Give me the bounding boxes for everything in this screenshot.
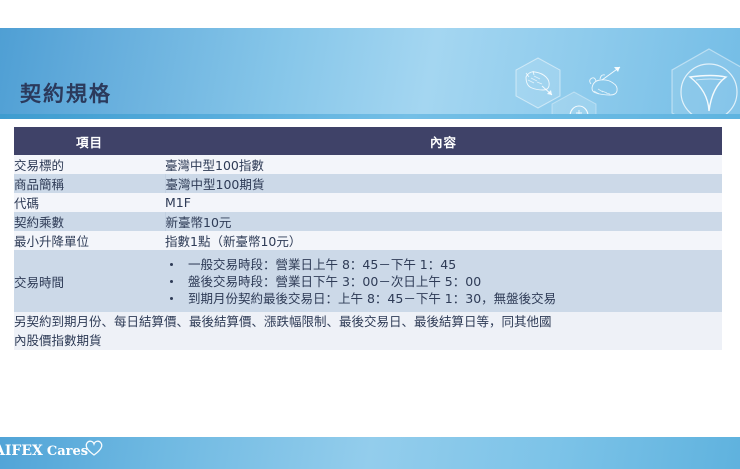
row-label: 交易標的 [14, 155, 165, 174]
row-value: 臺灣中型100期貨 [165, 174, 722, 193]
page-title: 契約規格 [20, 78, 112, 108]
note-line-2: 內股價指數期貨 [14, 331, 722, 350]
row-value: 新臺幣10元 [165, 212, 722, 231]
slide-header-band: 契約規格 [0, 28, 740, 114]
row-value: 臺灣中型100指數 [165, 155, 722, 174]
table-row-trading-hours: 交易時間 一般交易時段：營業日上午 8：45－下午 1：45 盤後交易時段：營業… [14, 250, 722, 312]
footer-brand: AIFEX [0, 443, 43, 459]
header-accent-strip [0, 114, 740, 119]
table-row: 最小升降單位 指數1點（新臺幣10元） [14, 231, 722, 250]
table-row-note: 另契約到期月份、每日結算價、最後結算價、漲跌幅限制、最後交易日、最後結算日等，同… [14, 312, 722, 350]
taifex-logo-icon [666, 46, 740, 114]
row-label: 交易時間 [14, 250, 165, 312]
table-row: 代碼 M1F [14, 193, 722, 212]
row-label: 商品簡稱 [14, 174, 165, 193]
list-item: 盤後交易時段：營業日下午 3：00－次日上午 5：00 [165, 273, 722, 290]
table-row: 契約乘數 新臺幣10元 [14, 212, 722, 231]
footer-logo: AIFEX Cares [0, 443, 105, 459]
footer-tagline: Cares [47, 444, 88, 459]
note-text: 另契約到期月份、每日結算價、最後結算價、漲跌幅限制、最後交易日、最後結算日等，同… [14, 312, 722, 350]
note-line-1: 另契約到期月份、每日結算價、最後結算價、漲跌幅限制、最後交易日、最後結算日等，同… [14, 314, 552, 329]
row-value: M1F [165, 193, 722, 212]
trading-hours-list: 一般交易時段：營業日上午 8：45－下午 1：45 盤後交易時段：營業日下午 3… [165, 256, 722, 307]
coins-icon [548, 90, 600, 114]
list-item: 到期月份契約最後交易日：上午 8：45－下午 1：30，無盤後交易 [165, 290, 722, 307]
table-row: 交易標的 臺灣中型100指數 [14, 155, 722, 174]
contract-spec-table: 項目 內容 交易標的 臺灣中型100指數 商品簡稱 臺灣中型100期貨 代碼 M… [14, 127, 722, 350]
row-value: 一般交易時段：營業日上午 8：45－下午 1：45 盤後交易時段：營業日下午 3… [165, 250, 722, 312]
row-label: 契約乘數 [14, 212, 165, 231]
slide-footer-band: AIFEX Cares [0, 437, 740, 469]
row-label: 最小升降單位 [14, 231, 165, 250]
row-label: 代碼 [14, 193, 165, 212]
heart-icon [83, 438, 105, 458]
table-header-row: 項目 內容 [14, 127, 722, 155]
column-header-item: 項目 [14, 127, 165, 155]
column-header-content: 內容 [165, 127, 722, 155]
row-value: 指數1點（新臺幣10元） [165, 231, 722, 250]
list-item: 一般交易時段：營業日上午 8：45－下午 1：45 [165, 256, 722, 273]
table-row: 商品簡稱 臺灣中型100期貨 [14, 174, 722, 193]
